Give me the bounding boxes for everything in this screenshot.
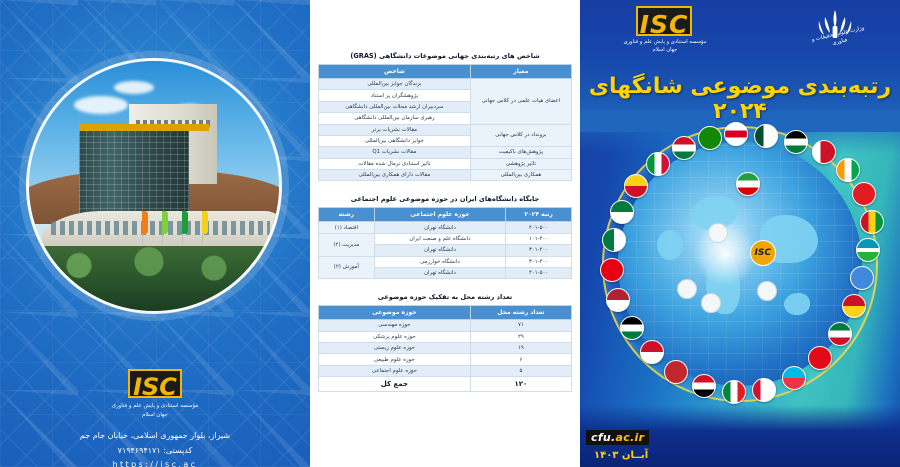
table-row: ۵ حوزه علوم اجتماعی	[319, 365, 572, 376]
page-title: رتبه‌بندی موضوعی شانگهای ۲۰۲۴	[580, 74, 900, 124]
landmass-icon	[784, 293, 810, 315]
flag-icon	[782, 366, 806, 390]
flag-icon	[606, 288, 630, 312]
university-cell: دانشگاه تهران	[374, 267, 506, 278]
col-header-count: تعداد رشته محل	[470, 306, 571, 320]
isc-footer-caption: مؤسسه استنادی و پایش علم و فناوری جهان ا…	[0, 402, 310, 419]
count-cell: ۲۹	[470, 331, 571, 342]
table-row: اعضای هیات علمی در کلاس جهانی برندگان جو…	[319, 79, 572, 90]
count-cell: ۷۱	[470, 320, 571, 331]
col-header-field: رشته	[319, 208, 375, 222]
criterion-cell: همکاری بین‌المللی	[470, 170, 571, 181]
indicator-cell: برندگان جوایز بین‌المللی	[319, 79, 471, 90]
flag-pennant	[162, 211, 168, 234]
org-node-icon	[708, 223, 728, 243]
indicator-cell: پژوهشگران پر استناد	[319, 90, 471, 101]
flag-icon	[672, 136, 696, 160]
indicator-cell: جوایز دانشگاهی بین‌المللی	[319, 135, 471, 146]
cfu-site-logo[interactable]: cfu.ac.ir	[586, 430, 649, 445]
indicator-cell: مقالات نشریات برتر	[319, 124, 471, 135]
flag-icon	[624, 174, 648, 198]
flag-icon	[752, 378, 776, 402]
area-cell: حوزه علوم زیستی	[319, 343, 471, 354]
university-cell: دانشگاه خوارزمی	[374, 256, 506, 267]
total-value: ۱۲۰	[470, 377, 571, 392]
university-cell: دانشگاه تهران	[374, 245, 506, 256]
table-row: تاثیر پژوهشی تاثیر استنادی نرمال شده مقا…	[319, 158, 572, 169]
area-cell: حوزه علوم پزشکی	[319, 331, 471, 342]
col-header-criterion: معیار	[470, 65, 571, 79]
left-footer: cfu.ac.ir آبــان ۱۴۰۳	[580, 405, 900, 467]
university-cell: دانشگاه تهران	[374, 222, 506, 233]
university-cell: دانشگاه علم و صنعت ایران	[374, 233, 506, 244]
publication-date: آبــان ۱۴۰۳	[594, 450, 648, 461]
indicators-table: معیار شاخص اعضای هیات علمی در کلاس جهانی…	[318, 64, 572, 181]
subject-counts-table: تعداد رشته محل حوزه موضوعی ۷۱ حوزه مهندس…	[318, 305, 572, 392]
isc-caption-line-2: جهان اسلام	[600, 46, 730, 54]
indicator-cell: مقالات نشریات Q1	[319, 147, 471, 158]
right-panel: ISC مؤسسه استنادی و پایش علم و فناوری جه…	[0, 0, 310, 467]
flag-icon	[640, 340, 664, 364]
flag-icon	[602, 228, 626, 252]
table-row: ۷۱ حوزه مهندسی	[319, 320, 572, 331]
count-cell: ۶	[470, 354, 571, 365]
indicator-cell: مقالات دارای همکاری بین‌المللی	[319, 170, 471, 181]
table-header-row: معیار شاخص	[319, 65, 572, 79]
address-line: شیراز، بلوار جمهوری اسلامی، خیابان جام ج…	[0, 429, 310, 443]
flag-icon	[754, 124, 778, 148]
flag-icon	[812, 140, 836, 164]
flag-icon	[698, 126, 722, 150]
field-cell: اقتصاد (۱)	[319, 222, 375, 233]
flag-pennant	[182, 211, 188, 234]
isc-node-icon: ISC	[750, 240, 776, 266]
table-row: برونداد در کلاس جهانی مقالات نشریات برتر	[319, 124, 572, 135]
landmass-icon	[657, 230, 683, 260]
flag-icon	[856, 238, 880, 262]
criterion-cell: برونداد در کلاس جهانی	[470, 124, 571, 147]
rank-cell: ۳۰۱-۴۰۰	[506, 256, 572, 267]
table-header-row: رتبه ۲۰۲۴ حوزه علوم اجتماعی رشته	[319, 208, 572, 222]
iran-social-table: رتبه ۲۰۲۴ حوزه علوم اجتماعی رشته ۴۰۱-۵۰۰…	[318, 207, 572, 279]
world-globe-graphic: ISC	[602, 126, 878, 402]
indicator-cell: تاثیر استنادی نرمال شده مقالات	[319, 158, 471, 169]
flag-icon	[852, 182, 876, 206]
isc-logo-footer: ISC	[128, 369, 182, 398]
table-row: ۱۰۱-۲۰۰ دانشگاه علم و صنعت ایران مدیریت …	[319, 233, 572, 244]
iran-flag-icon	[736, 172, 760, 196]
isc-headquarters-photo	[26, 58, 282, 314]
building-signage	[79, 124, 209, 132]
table-row: همکاری بین‌المللی مقالات دارای همکاری بی…	[319, 170, 572, 181]
criterion-cell: تاثیر پژوهشی	[470, 158, 571, 169]
col-header-rank: رتبه ۲۰۲۴	[506, 208, 572, 222]
flag-icon	[600, 258, 624, 282]
podium-building	[42, 211, 280, 251]
isc-footer-caption-line-2: جهان اسلام	[0, 411, 310, 420]
flag-pennant	[202, 211, 208, 234]
table-total-row: ۱۲۰ جمع کل	[319, 377, 572, 392]
contact-address-block: شیراز، بلوار جمهوری اسلامی، خیابان جام ج…	[0, 429, 310, 458]
flag-icon	[692, 374, 716, 398]
flag-icon	[724, 122, 748, 146]
center-panel: شاخص های رتبه‌بندی جهانی موضوعات دانشگاه…	[310, 0, 580, 467]
area-cell: حوزه علوم اجتماعی	[319, 365, 471, 376]
col-header-university: حوزه علوم اجتماعی	[374, 208, 506, 222]
indicator-cell: رهبری سازمان بین‌المللی دانشگاهی	[319, 113, 471, 124]
isc-caption-line-1: مؤسسه استنادی و پایش علم و فناوری	[600, 38, 730, 46]
isc-footer-caption-line-1: مؤسسه استنادی و پایش علم و فناوری	[0, 402, 310, 411]
flag-icon	[620, 316, 644, 340]
garden-foreground	[29, 246, 279, 311]
table-row: ۱۹ حوزه علوم زیستی	[319, 343, 572, 354]
table-row: پژوهش‌های باکیفیت مقالات نشریات Q1	[319, 147, 572, 158]
flag-icon	[722, 380, 746, 404]
field-cell: مدیریت (۲)	[319, 233, 375, 256]
total-label: جمع کل	[319, 377, 471, 392]
isc-logo-caption: مؤسسه استنادی و پایش علم و فناوری جهان ا…	[600, 38, 730, 54]
indicator-cell: سردبیران ارشد مجلات بین‌المللی دانشگاهی	[319, 101, 471, 112]
area-cell: حوزه علوم طبیعی	[319, 354, 471, 365]
criterion-cell: پژوهش‌های باکیفیت	[470, 147, 571, 158]
table-row: ۳۰۱-۴۰۰ دانشگاه خوارزمی آموزش (۲)	[319, 256, 572, 267]
area-cell: حوزه مهندسی	[319, 320, 471, 331]
rank-cell: ۱۰۱-۲۰۰	[506, 233, 572, 244]
table-row: ۶ حوزه علوم طبیعی	[319, 354, 572, 365]
postal-code-line: کدپستی: ۷۱۹۴۶۹۴۱۷۱	[0, 444, 310, 458]
isc-logo: ISC	[636, 6, 692, 36]
table-row: ۲۹ حوزه علوم پزشکی	[319, 331, 572, 342]
field-cell: آموزش (۲)	[319, 256, 375, 279]
table-row: ۴۰۱-۵۰۰ دانشگاه تهران اقتصاد (۱)	[319, 222, 572, 233]
rank-cell: ۴۰۱-۵۰۰	[506, 222, 572, 233]
indicators-table-title: شاخص های رتبه‌بندی جهانی موضوعات دانشگاه…	[318, 52, 572, 60]
subject-counts-table-title: تعداد رشته محل به تفکیک حوزه موضوعی	[318, 293, 572, 301]
flag-icon	[842, 294, 866, 318]
right-footer: ISC مؤسسه استنادی و پایش علم و فناوری جه…	[0, 357, 310, 467]
table-header-row: تعداد رشته محل حوزه موضوعی	[319, 306, 572, 320]
col-header-area: حوزه موضوعی	[319, 306, 471, 320]
rank-cell: ۴۰۱-۵۰۰	[506, 267, 572, 278]
count-cell: ۵	[470, 365, 571, 376]
cfu-logo-suffix: ac.ir	[616, 431, 645, 444]
flag-icon	[784, 130, 808, 154]
flag-icon	[664, 360, 688, 384]
flag-icon	[610, 200, 634, 224]
count-cell: ۱۹	[470, 343, 571, 354]
flag-icon	[646, 152, 670, 176]
cloud	[74, 96, 128, 114]
cfu-logo-prefix: cfu.	[591, 431, 616, 444]
flag-icon	[808, 346, 832, 370]
rank-cell: ۳۰۱-۴۰۰	[506, 245, 572, 256]
iran-social-table-title: جایگاه دانشگاه‌های ایران در حوزه موضوعی …	[318, 195, 572, 203]
col-header-indicator: شاخص	[319, 65, 471, 79]
flag-icon	[860, 210, 884, 234]
website-url[interactable]: https://isc.ac	[0, 460, 310, 467]
infographic-poster: ISC مؤسسه استنادی و پایش علم و فناوری جه…	[0, 0, 900, 467]
flag-pennant	[142, 211, 148, 234]
flag-icon	[828, 322, 852, 346]
flag-icon	[836, 158, 860, 182]
glass-tower	[79, 126, 189, 221]
flag-icon	[850, 266, 874, 290]
cloud	[114, 81, 154, 94]
org-node-icon	[677, 279, 697, 299]
criterion-cell: اعضای هیات علمی در کلاس جهانی	[470, 79, 571, 125]
left-panel: ISC مؤسسه استنادی و پایش علم و فناوری جه…	[580, 0, 900, 467]
